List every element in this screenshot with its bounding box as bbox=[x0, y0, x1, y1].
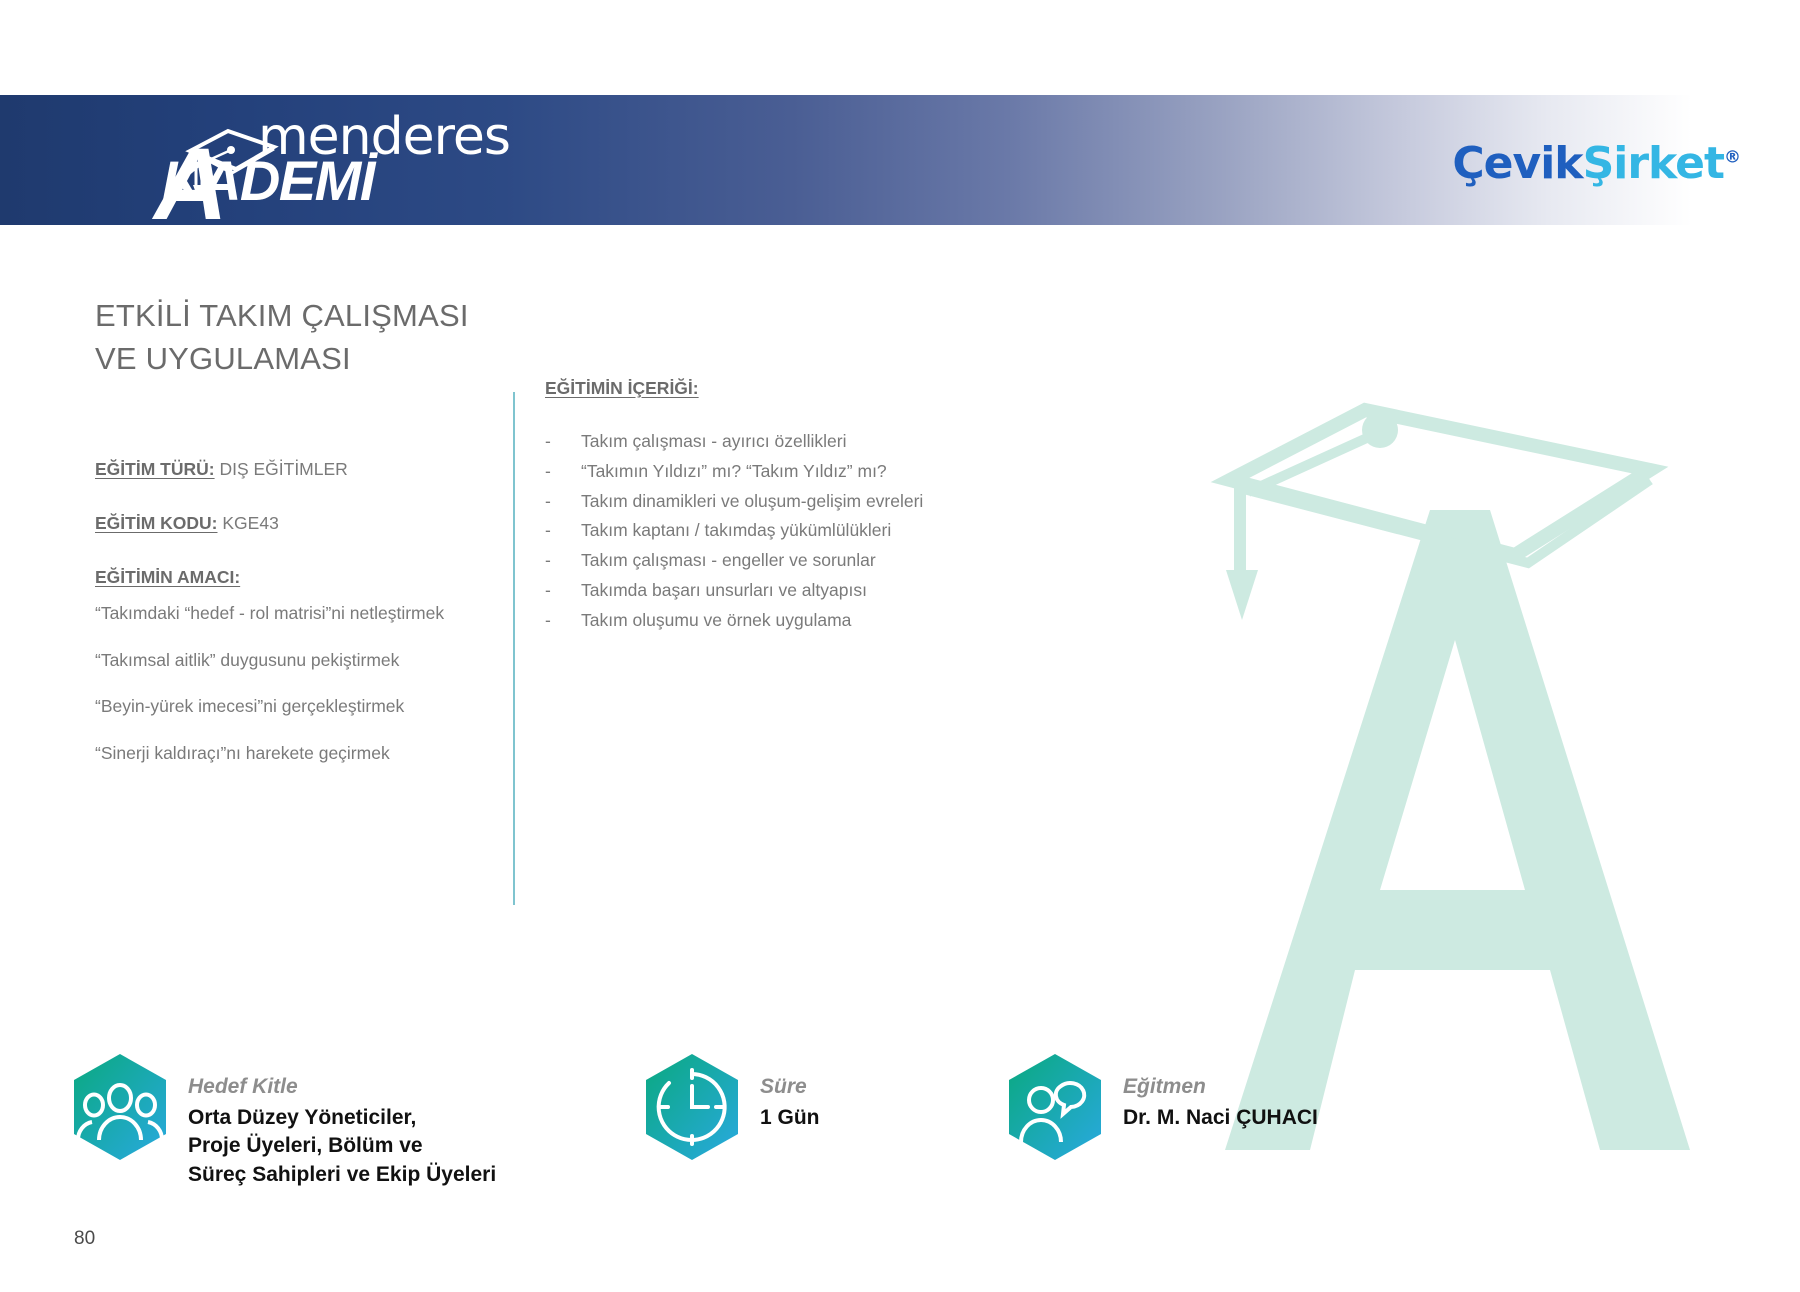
badge-trainer: Eğitmen Dr. M. Naci ÇUHACI bbox=[1003, 1052, 1318, 1162]
dash-bullet-icon: - bbox=[545, 516, 581, 546]
badge-title: Süre bbox=[760, 1074, 820, 1100]
aim-item: “Beyin-yürek imecesi”ni gerçekleştirmek bbox=[95, 693, 487, 720]
clock-icon bbox=[640, 1052, 744, 1162]
badge-duration: Süre 1 Gün bbox=[640, 1052, 820, 1162]
page-number: 80 bbox=[74, 1228, 95, 1250]
badge-value: Orta Düzey Yöneticiler, Proje Üyeleri, B… bbox=[188, 1104, 496, 1188]
left-column: ETKİLİ TAKIM ÇALIŞMASI VE UYGULAMASI EĞİ… bbox=[95, 295, 490, 381]
menderes-akademi-logo: A menderes KADEMİ bbox=[88, 105, 508, 220]
content-list-item: - Takım çalışması - engeller ve sorunlar bbox=[545, 546, 1105, 576]
training-type-value: DIŞ EĞİTİMLER bbox=[219, 459, 347, 479]
content-heading: EĞİTİMİN İÇERİĞİ: bbox=[545, 378, 1105, 399]
badge-target-audience: Hedef Kitle Orta Düzey Yöneticiler, Proj… bbox=[68, 1052, 496, 1189]
dash-bullet-icon: - bbox=[545, 606, 581, 636]
aim-item: “Takımdaki “hedef - rol matrisi”ni netle… bbox=[95, 600, 487, 627]
content-list: - Takım çalışması - ayırıcı özellikleri … bbox=[545, 427, 1105, 635]
content-list-item-label: Takım dinamikleri ve oluşum-gelişim evre… bbox=[581, 487, 923, 517]
content-list-item: - Takım kaptanı / takımdaş yükümlülükler… bbox=[545, 516, 1105, 546]
dash-bullet-icon: - bbox=[545, 427, 581, 457]
content-list-item-label: Takım kaptanı / takımdaş yükümlülükleri bbox=[581, 516, 891, 546]
training-code-row: EĞİTİM KODU: KGE43 bbox=[95, 511, 279, 536]
content-list-item-label: Takım çalışması - ayırıcı özellikleri bbox=[581, 427, 846, 457]
training-code-value: KGE43 bbox=[222, 513, 278, 533]
training-aim-label: EĞİTİMİN AMACI: bbox=[95, 567, 240, 587]
registered-mark-icon: ® bbox=[1724, 147, 1740, 167]
training-type-row: EĞİTİM TÜRÜ: DIŞ EĞİTİMLER bbox=[95, 457, 348, 482]
dash-bullet-icon: - bbox=[545, 576, 581, 606]
content-list-item-label: Takım çalışması - engeller ve sorunlar bbox=[581, 546, 876, 576]
cevik-sirket-logo: ÇevikŞirket® bbox=[1452, 138, 1740, 189]
badge-text: Eğitmen Dr. M. Naci ÇUHACI bbox=[1123, 1052, 1318, 1132]
page-title: ETKİLİ TAKIM ÇALIŞMASI VE UYGULAMASI bbox=[95, 295, 490, 381]
trainer-speech-icon bbox=[1003, 1052, 1107, 1162]
logo-akademi-text: KADEMİ bbox=[162, 153, 374, 209]
training-aim-row: EĞİTİMİN AMACI: bbox=[95, 565, 240, 590]
badge-title: Eğitmen bbox=[1123, 1074, 1318, 1100]
content-list-item: - Takım çalışması - ayırıcı özellikleri bbox=[545, 427, 1105, 457]
aim-item: “Takımsal aitlik” duygusunu pekiştirmek bbox=[95, 647, 487, 674]
badge-value: Dr. M. Naci ÇUHACI bbox=[1123, 1104, 1318, 1132]
content-list-item-label: Takımda başarı unsurları ve altyapısı bbox=[581, 576, 867, 606]
badge-title: Hedef Kitle bbox=[188, 1074, 496, 1100]
badge-text: Hedef Kitle Orta Düzey Yöneticiler, Proj… bbox=[188, 1052, 496, 1189]
content-list-item-label: Takım oluşumu ve örnek uygulama bbox=[581, 606, 851, 636]
content-list-item: - Takımda başarı unsurları ve altyapısı bbox=[545, 576, 1105, 606]
badge-text: Süre 1 Gün bbox=[760, 1052, 820, 1132]
dash-bullet-icon: - bbox=[545, 546, 581, 576]
right-column: EĞİTİMİN İÇERİĞİ: - Takım çalışması - ay… bbox=[545, 378, 1105, 635]
dash-bullet-icon: - bbox=[545, 457, 581, 487]
content-list-item: - “Takımın Yıldızı” mı? “Takım Yıldız” m… bbox=[545, 457, 1105, 487]
badge-value: 1 Gün bbox=[760, 1104, 820, 1132]
content-list-item-label: “Takımın Yıldızı” mı? “Takım Yıldız” mı? bbox=[581, 457, 887, 487]
dash-bullet-icon: - bbox=[545, 487, 581, 517]
background-watermark-a-graphic bbox=[1130, 370, 1770, 1150]
logo-sirket-text: Şirket bbox=[1583, 138, 1724, 189]
training-type-label: EĞİTİM TÜRÜ: bbox=[95, 459, 215, 479]
training-aim-list: “Takımdaki “hedef - rol matrisi”ni netle… bbox=[95, 600, 487, 786]
content-list-item: - Takım dinamikleri ve oluşum-gelişim ev… bbox=[545, 487, 1105, 517]
training-code-label: EĞİTİM KODU: bbox=[95, 513, 218, 533]
people-group-icon bbox=[68, 1052, 172, 1162]
logo-cevik-text: Çevik bbox=[1452, 138, 1582, 189]
aim-item: “Sinerji kaldıraçı”nı harekete geçirmek bbox=[95, 740, 487, 767]
content-list-item: - Takım oluşumu ve örnek uygulama bbox=[545, 606, 1105, 636]
column-divider bbox=[513, 392, 515, 905]
